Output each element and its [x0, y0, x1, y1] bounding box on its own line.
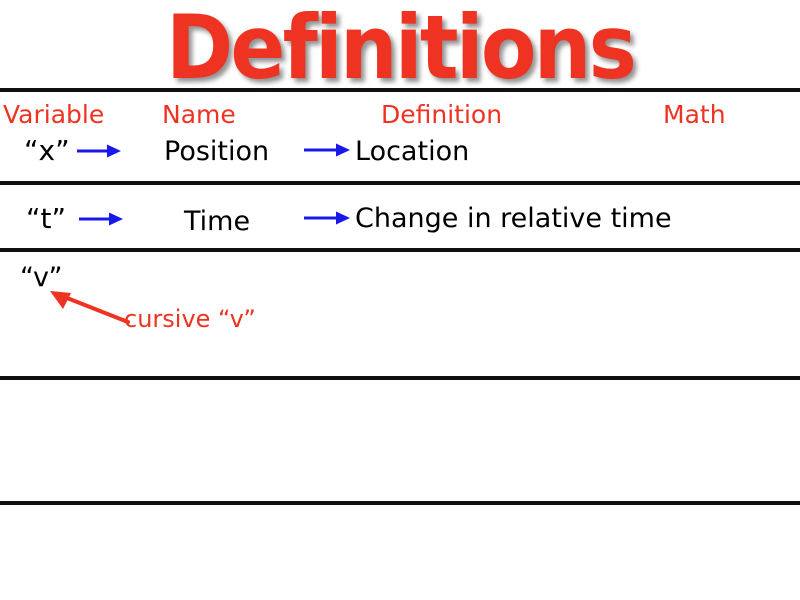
row-1-variable: “x” — [24, 135, 70, 167]
row-2-name: Time — [184, 206, 250, 238]
row-2-variable: “t” — [26, 203, 66, 235]
column-header-name: Name — [162, 101, 236, 129]
table-rule-row1 — [0, 181, 800, 185]
column-header-variable: Variable — [3, 101, 104, 129]
table-rule-bottom — [0, 501, 800, 505]
row-2-definition: Change in relative time — [355, 203, 672, 235]
slide-canvas: Definitions Variable Name Definition Mat… — [0, 0, 800, 600]
right-arrow-icon — [78, 210, 124, 233]
right-arrow-icon — [303, 141, 351, 164]
right-arrow-icon — [76, 142, 122, 165]
column-header-definition: Definition — [381, 101, 502, 129]
table-rule-row3 — [0, 376, 800, 380]
row-1-definition: Location — [355, 136, 469, 168]
row-1-name: Position — [164, 136, 269, 168]
row-3-quote-open: “ — [20, 262, 33, 293]
annotation-label: cursive “v” — [124, 305, 256, 333]
right-arrow-icon — [303, 209, 351, 232]
table-rule-row2 — [0, 248, 800, 252]
page-title: Definitions — [32, 2, 768, 94]
column-header-math: Math — [663, 101, 726, 129]
